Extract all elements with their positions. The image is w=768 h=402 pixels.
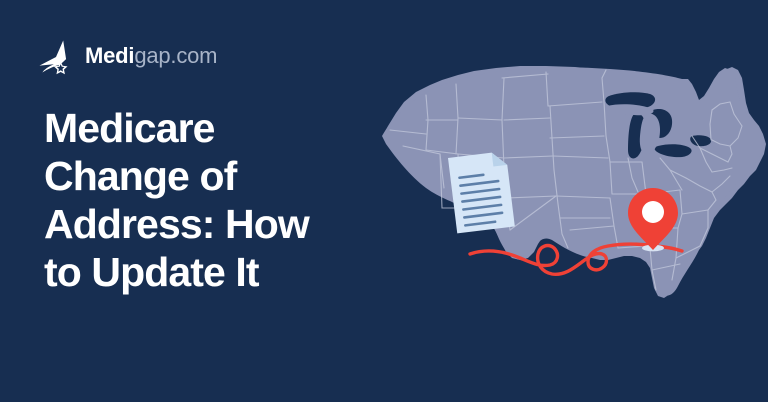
page-title: Medicare Change of Address: How to Updat… (44, 104, 394, 296)
logo-wordmark-light: gap.com (134, 43, 217, 68)
logo-wordmark-strong: Medi (85, 43, 134, 68)
document-icon (448, 151, 515, 234)
united-states-map-illustration (370, 58, 768, 368)
us-silhouette (382, 67, 764, 295)
headline-line-2: Change of (44, 152, 394, 200)
logo-wordmark: Medigap.com (85, 45, 217, 69)
medigap-star-swoosh-logo-icon (38, 39, 74, 75)
headline-line-1: Medicare (44, 104, 394, 152)
site-logo[interactable]: Medigap.com (38, 38, 217, 76)
map-pin-center (642, 201, 664, 223)
headline-line-4: to Update It (44, 248, 394, 296)
map-shape-accurate (382, 67, 764, 295)
medigap-article-banner: Medigap.com Medicare Change of Address: … (0, 0, 768, 402)
united-states-map-svg (370, 58, 768, 368)
headline-line-3: Address: How (44, 200, 394, 248)
